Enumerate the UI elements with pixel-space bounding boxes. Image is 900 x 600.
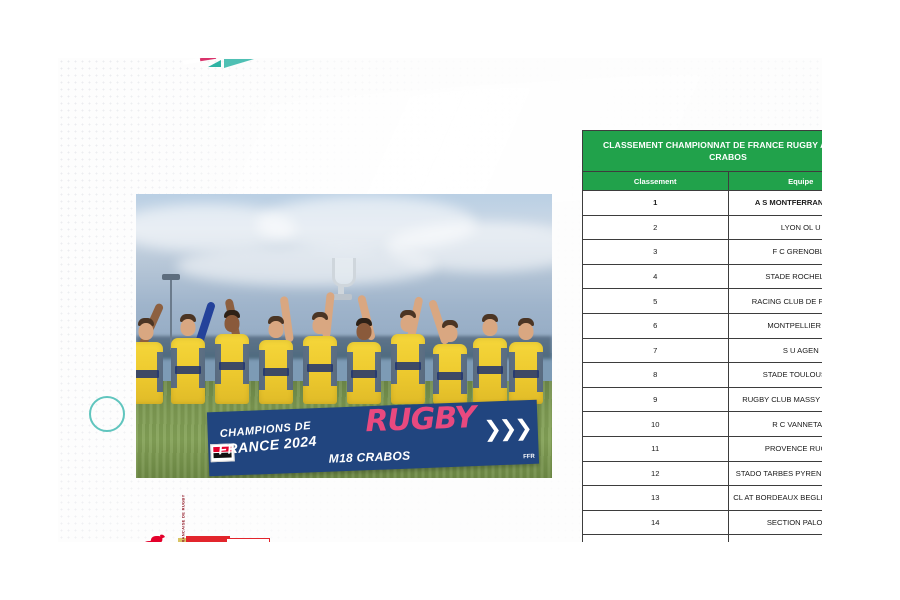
cell-team: RUGBY CLUB MASSY ESSONNE <box>728 387 822 412</box>
screenshot-canvas: CHAMPIONS DE FRANCE 2024 RUGBY M18 CRABO… <box>0 0 900 600</box>
table-row: 6MONTPELLIER HR <box>583 313 823 338</box>
table-row: 1A S MONTFERRANDAISE <box>583 191 823 216</box>
banner-ffr-logo: FFR <box>523 454 535 460</box>
photo-cloud <box>176 246 436 286</box>
column-header-classement: Classement <box>583 172 729 191</box>
champions-banner: CHAMPIONS DE FRANCE 2024 RUGBY M18 CRABO… <box>207 400 539 477</box>
cell-rank: 2 <box>583 215 729 240</box>
cell-team: PROVENCE RUGBY <box>728 436 822 461</box>
cell-team: RACING CLUB DE FRANCE <box>728 289 822 314</box>
rugby7-flag-emblem <box>226 538 270 542</box>
table-row: 12STADO TARBES PYRENEES RUGBY <box>583 461 823 486</box>
photo-floodlight-head <box>162 274 180 280</box>
cell-team: SECTION PALOISE <box>728 510 822 535</box>
cell-rank: 11 <box>583 436 729 461</box>
ffr-logo: FFR <box>120 532 182 542</box>
cell-rank: 12 <box>583 461 729 486</box>
table-row: 9RUGBY CLUB MASSY ESSONNE <box>583 387 823 412</box>
banner-line-3: M18 CRABOS <box>328 449 410 466</box>
cell-team: LYON OL U <box>728 215 822 240</box>
table-row: 4STADE ROCHELAIS <box>583 264 823 289</box>
table-row: 11PROVENCE RUGBY <box>583 436 823 461</box>
cell-team: CL AT BORDEAUX BEGLES GIRONDE <box>728 486 822 511</box>
cell-rank: 3 <box>583 240 729 265</box>
teal-sliver-decoration <box>208 60 221 67</box>
cell-team: STADO TARBES PYRENEES RUGBY <box>728 461 822 486</box>
cell-rank: 15 <box>583 535 729 542</box>
table-row: 15C A BRIVISTE CORREZE <box>583 535 823 542</box>
teal-triangle-decoration <box>224 59 254 68</box>
cell-team: R C VANNETAIS <box>728 412 822 437</box>
ranking-table-body: 1A S MONTFERRANDAISE2LYON OL U3F C GRENO… <box>583 191 823 543</box>
team-photo: CHAMPIONS DE FRANCE 2024 RUGBY M18 CRABO… <box>136 194 552 478</box>
photo-trophy-cup <box>332 258 356 287</box>
cell-rank: 10 <box>583 412 729 437</box>
rooster-icon <box>126 532 174 542</box>
cell-team: STADE TOULOUSAIN <box>728 363 822 388</box>
rugby7-badge: FEDERATION FRANCAISE DE RUGBY RUGBY 7 <box>178 536 268 542</box>
cell-rank: 8 <box>583 363 729 388</box>
cell-rank: 13 <box>583 486 729 511</box>
cell-rank: 7 <box>583 338 729 363</box>
cell-team: MONTPELLIER HR <box>728 313 822 338</box>
table-row: 8STADE TOULOUSAIN <box>583 363 823 388</box>
rugby7-shield: RUGBY 7 <box>186 536 230 542</box>
table-row: 14SECTION PALOISE <box>583 510 823 535</box>
table-row: 13CL AT BORDEAUX BEGLES GIRONDE <box>583 486 823 511</box>
cell-rank: 5 <box>583 289 729 314</box>
slide-canvas: CHAMPIONS DE FRANCE 2024 RUGBY M18 CRABO… <box>58 58 822 542</box>
cell-rank: 9 <box>583 387 729 412</box>
banner-brand: RUGBY <box>365 400 476 439</box>
table-row: 7S U AGEN <box>583 338 823 363</box>
teal-ring-decoration <box>89 396 125 432</box>
ranking-table-container: CLASSEMENT CHAMPIONNAT DE FRANCE RUGBY A… <box>582 130 822 542</box>
table-row: 3F C GRENOBLE <box>583 240 823 265</box>
cell-rank: 6 <box>583 313 729 338</box>
rugby7-side-text: FEDERATION FRANCAISE DE RUGBY <box>181 532 186 543</box>
ranking-table: CLASSEMENT CHAMPIONNAT DE FRANCE RUGBY A… <box>582 130 822 542</box>
table-row: 2LYON OL U <box>583 215 823 240</box>
cell-team: STADE ROCHELAIS <box>728 264 822 289</box>
cell-rank: 1 <box>583 191 729 216</box>
column-header-equipe: Equipe <box>728 172 822 191</box>
cell-rank: 4 <box>583 264 729 289</box>
cell-team: S U AGEN <box>728 338 822 363</box>
cell-rank: 14 <box>583 510 729 535</box>
banner-chevrons-icon: ❯❯❯ <box>483 416 530 443</box>
table-title: CLASSEMENT CHAMPIONNAT DE FRANCE RUGBY A… <box>583 131 823 172</box>
cell-team: F C GRENOBLE <box>728 240 822 265</box>
photo-floodlight-pole <box>170 278 172 350</box>
cell-team: C A BRIVISTE CORREZE <box>728 535 822 542</box>
table-row: 5RACING CLUB DE FRANCE <box>583 289 823 314</box>
cell-team: A S MONTFERRANDAISE <box>728 191 822 216</box>
table-row: 10R C VANNETAIS <box>583 412 823 437</box>
